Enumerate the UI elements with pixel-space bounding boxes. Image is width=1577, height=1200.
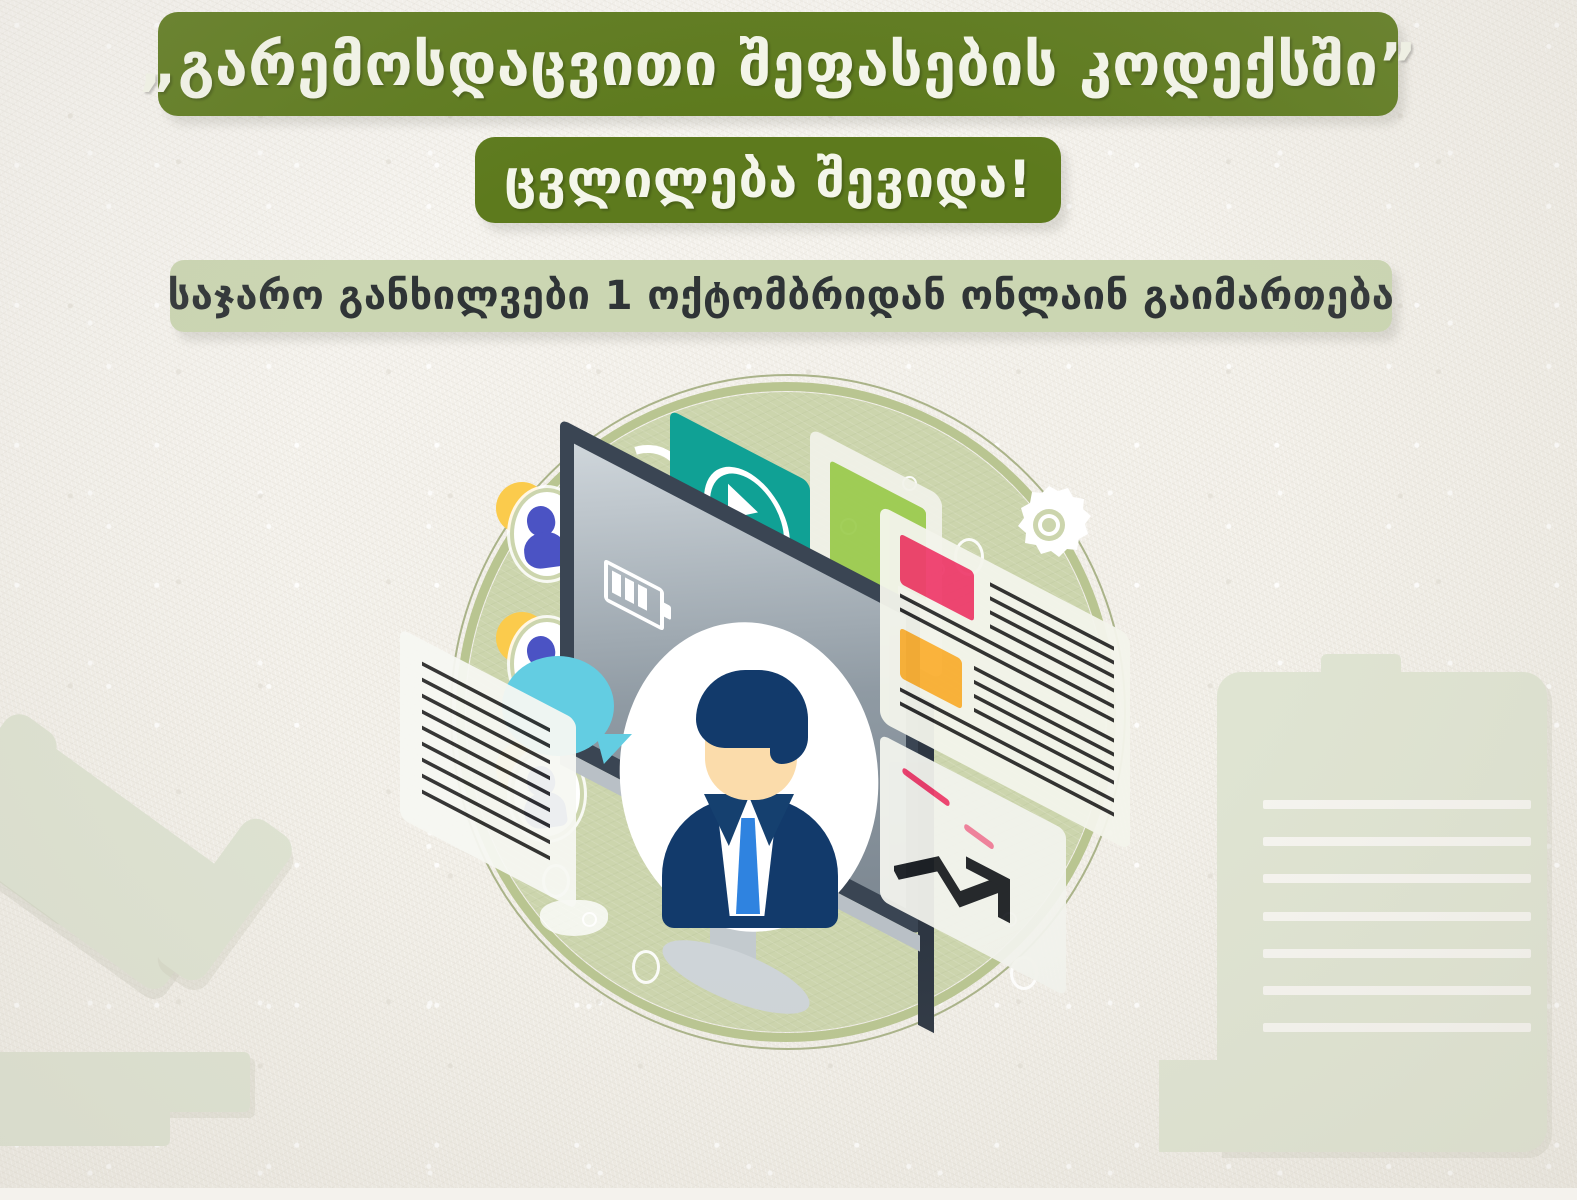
gavel-base-bottom [0,1104,170,1146]
illustration [410,352,1150,1092]
title-banner: „გარემოსდაცვითი შეფასების კოდექსში” [158,12,1398,116]
subtitle-banner: ცვლილება შევიდა! [475,137,1061,223]
document-line [1263,986,1531,995]
document-watermark [1217,672,1577,1192]
chart-dash [902,767,950,807]
gear-icon [1006,482,1092,568]
poster-subtitle: ცვლილება შევიდა! [504,150,1032,210]
person-hair-side [770,692,808,764]
document-line [1263,874,1531,883]
document-tab [1321,654,1401,682]
document-line [1263,837,1531,846]
participant-avatar-1 [496,484,570,576]
document-notch [1159,1060,1249,1152]
gavel-base-top [0,1052,250,1112]
chart-dash [964,823,995,851]
news-line [990,610,1114,678]
document-line [1263,1023,1531,1032]
note-banner: საჯარო განხილვები 1 ოქტომბრიდან ონლაინ გ… [170,260,1392,332]
poster-title: „გარემოსდაცვითი შეფასების კოდექსში” [139,30,1418,99]
document-line [1263,912,1531,921]
news-line [990,624,1114,692]
document-line [1263,800,1531,809]
news-card-badge-secondary [900,627,962,709]
speaker-portrait [620,622,878,940]
document-sheet [1217,672,1547,1152]
document-line [1263,949,1531,958]
poster-note: საჯარო განხილვები 1 ოქტომბრიდან ონლაინ გ… [168,273,1395,319]
gavel-watermark [0,700,360,1200]
